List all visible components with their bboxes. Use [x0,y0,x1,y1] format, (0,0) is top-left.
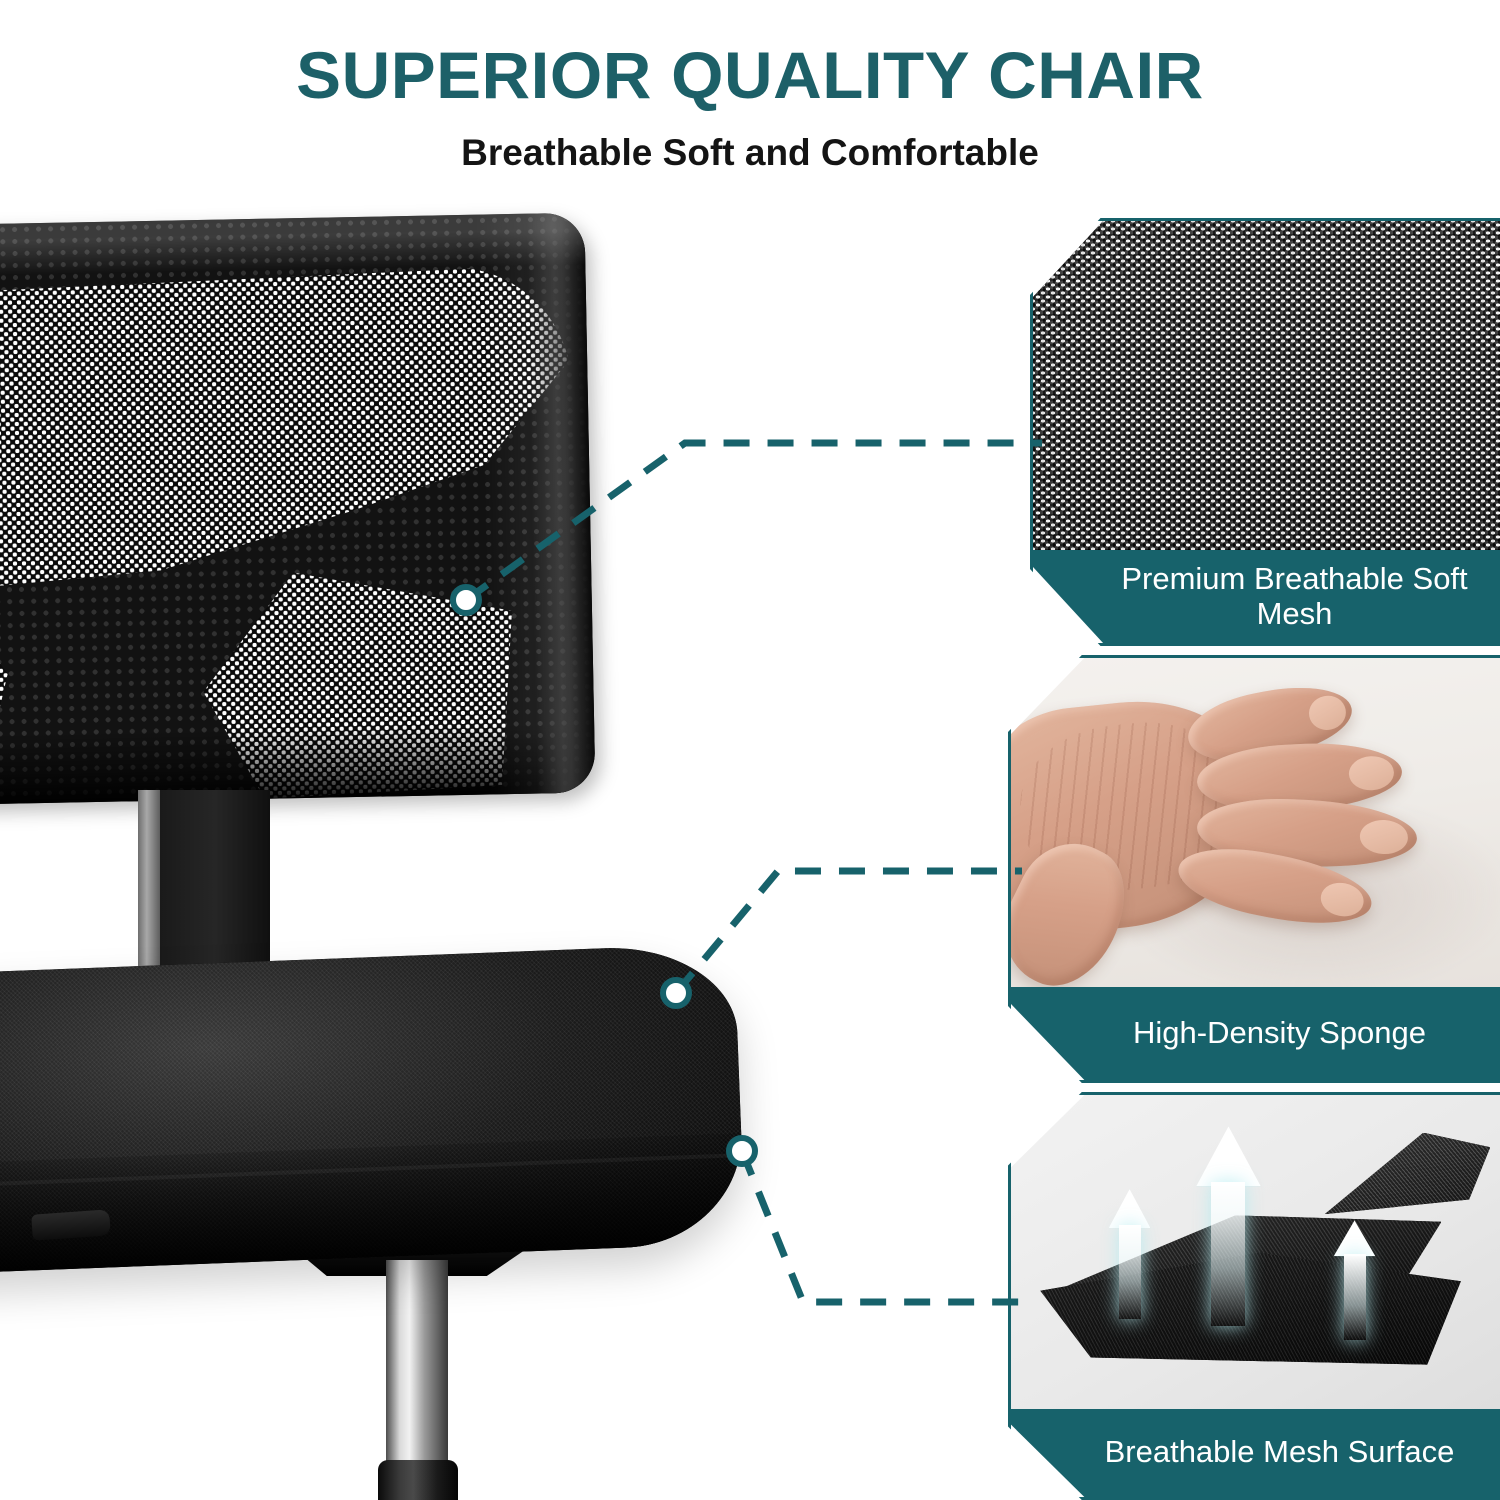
mesh-fabric-closeup-image [1033,221,1500,550]
fingernail [1348,754,1395,791]
page-subtitle: Breathable Soft and Comfortable [0,108,1500,171]
callout-panel-high-density-sponge: High-Density Sponge [1008,655,1500,1083]
page-title: SUPERIOR QUALITY CHAIR [0,0,1500,108]
airflow-arrow-up-icon [1344,1220,1366,1340]
airflow-arrow-up-icon [1211,1126,1245,1326]
fingernail [1306,692,1348,733]
airflow-arrow-up-icon [1119,1189,1141,1319]
panel-caption-premium-mesh: Premium Breathable Soft Mesh [1033,550,1500,643]
header-block: SUPERIOR QUALITY CHAIR Breathable Soft a… [0,0,1500,205]
panel-caption-breathable-mesh-surface: Breathable Mesh Surface [1011,1409,1500,1497]
panel-content: High-Density Sponge [1011,658,1500,1080]
seat-height-lever [31,1209,111,1240]
chair-seat-cushion [0,943,745,1277]
gas-cylinder-black-housing [378,1460,458,1500]
gas-cylinder-chrome-shaft [386,1260,448,1475]
panel-content: Breathable Mesh Surface [1011,1095,1500,1497]
backrest-bottom-shadow [0,722,595,807]
callout-panel-breathable-mesh-surface: Breathable Mesh Surface [1008,1092,1500,1500]
arrow-head [1196,1126,1261,1186]
backrest-metal-post [138,790,160,995]
chair-backrest [0,213,595,808]
layered-mesh-airflow-image [1011,1095,1500,1409]
fingernail [1318,880,1366,920]
panel-content: Premium Breathable Soft Mesh [1033,221,1500,643]
mesh-sheet-flap [1314,1133,1490,1215]
backrest-edge-highlight [526,213,595,794]
fingernail [1359,818,1409,855]
chair-product-photo [0,190,1010,1500]
callout-panel-premium-mesh: Premium Breathable Soft Mesh [1030,218,1500,646]
panel-caption-high-density-sponge: High-Density Sponge [1011,987,1500,1080]
arrow-stem [1211,1182,1245,1326]
arrow-stem [1119,1225,1141,1319]
hand-on-sponge-image [1011,658,1500,987]
arrow-stem [1344,1254,1366,1340]
arrow-head [1109,1189,1151,1228]
